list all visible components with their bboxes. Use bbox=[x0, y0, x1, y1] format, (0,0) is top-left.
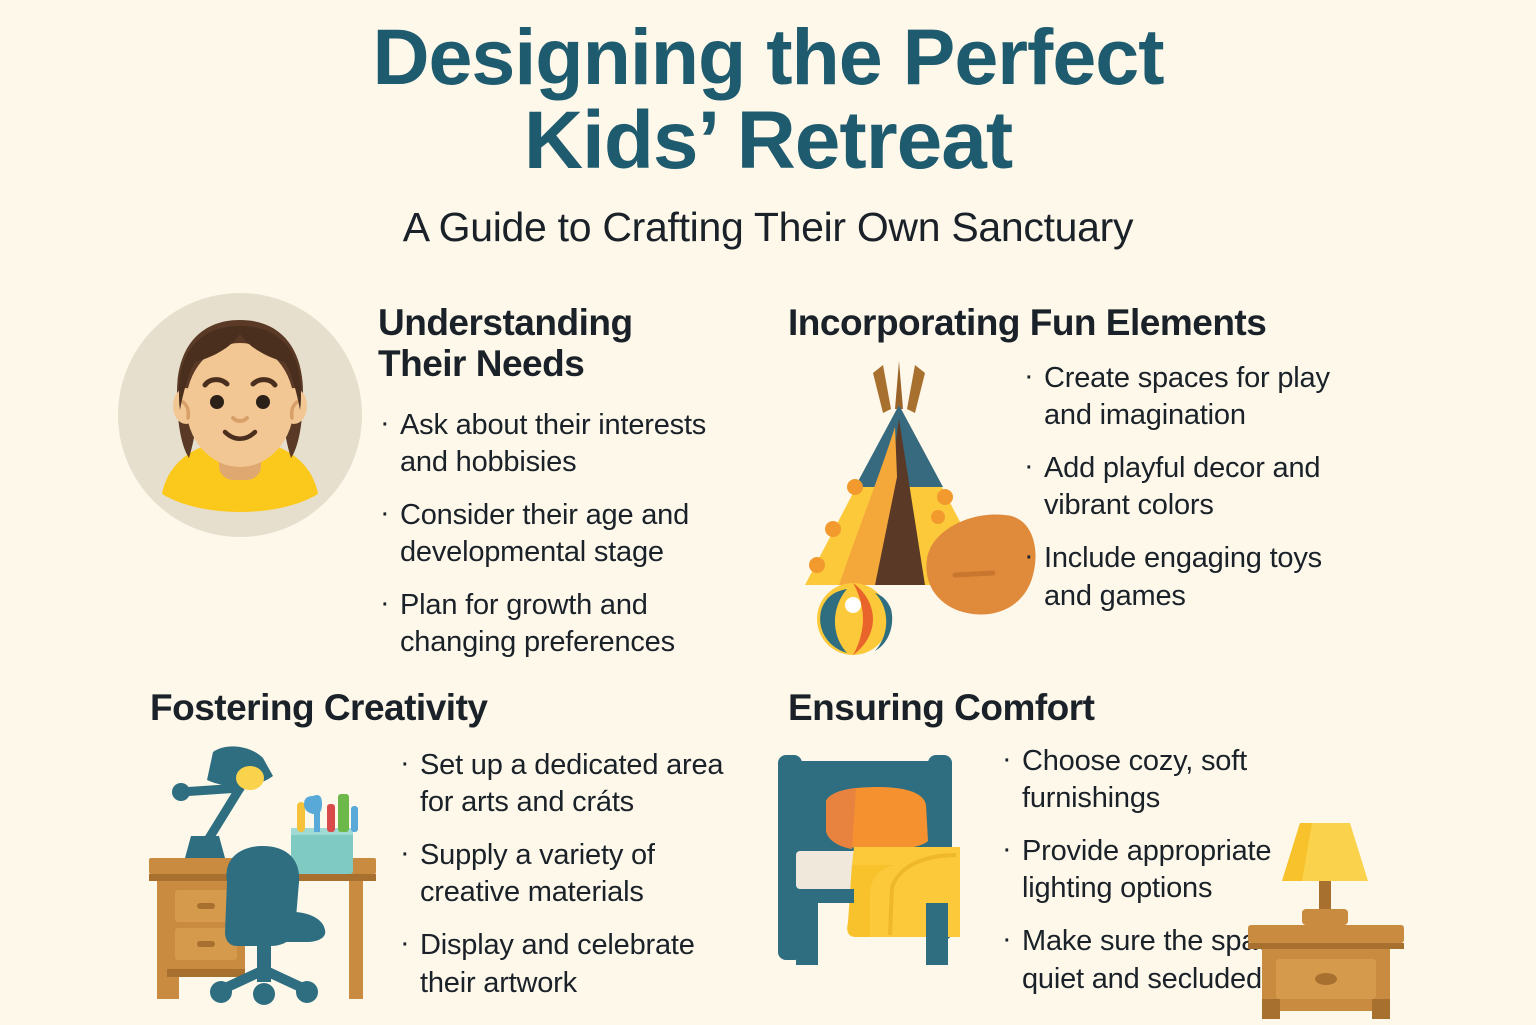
section-heading-1: Understanding Their Needs bbox=[378, 302, 726, 385]
section-4-head-wrap: Ensuring Comfort bbox=[788, 687, 1094, 728]
section-heading-4: Ensuring Comfort bbox=[788, 687, 1094, 728]
header: Designing the Perfect Kids’ Retreat A Gu… bbox=[0, 0, 1536, 251]
section-understanding-their-needs: Understanding Their Needs Ask about thei… bbox=[0, 285, 760, 675]
section-ensuring-comfort: Ensuring Comfort bbox=[760, 675, 1536, 1025]
list-item: Consider their age and developmental sta… bbox=[378, 497, 726, 571]
page-title-line2: Kids’ Retreat bbox=[0, 101, 1536, 181]
sections-grid: Understanding Their Needs Ask about thei… bbox=[0, 285, 1536, 1025]
list-item: Display and celebrate their artwork bbox=[398, 927, 728, 1001]
desk-with-lamp-icon bbox=[145, 740, 380, 1005]
list-item: Set up a dedicated area for arts and crá… bbox=[398, 747, 728, 821]
list-item: Plan for growth and changing preferences bbox=[378, 587, 726, 661]
page-subtitle: A Guide to Crafting Their Own Sanctuary bbox=[0, 204, 1536, 251]
section-heading-3: Fostering Creativity bbox=[150, 687, 487, 728]
section-2-text: Create spaces for play and imagination A… bbox=[1022, 360, 1362, 631]
list-item: Add playful decor and vibrant colors bbox=[1022, 450, 1362, 524]
section-2-head-wrap: Incorporating Fun Elements bbox=[788, 302, 1388, 343]
page-title-line1: Designing the Perfect bbox=[0, 18, 1536, 95]
section-fostering-creativity: Fostering Creativity bbox=[0, 675, 760, 1025]
section-2-bullets: Create spaces for play and imagination A… bbox=[1022, 360, 1362, 615]
list-item: Choose cozy, soft furnishings bbox=[1000, 743, 1330, 817]
infographic-page: Designing the Perfect Kids’ Retreat A Gu… bbox=[0, 0, 1536, 1024]
section-1-bullets: Ask about their interests and hobbisies … bbox=[378, 407, 726, 662]
list-item: Ask about their interests and hobbisies bbox=[378, 407, 726, 481]
girl-avatar-icon bbox=[115, 290, 365, 540]
list-item: Supply a variety of creative materials bbox=[398, 837, 728, 911]
nightstand-with-lamp-icon bbox=[1238, 817, 1423, 1007]
bed-icon bbox=[760, 755, 990, 1005]
section-3-head-wrap: Fostering Creativity bbox=[150, 687, 487, 728]
teepee-tent-icon bbox=[755, 357, 1040, 657]
section-heading-2: Incorporating Fun Elements bbox=[788, 302, 1388, 343]
section-3-text: Set up a dedicated area for arts and crá… bbox=[398, 747, 728, 1018]
list-item: Create spaces for play and imagination bbox=[1022, 360, 1362, 434]
list-item: Include engaging toys and games bbox=[1022, 540, 1362, 614]
section-1-text: Understanding Their Needs Ask about thei… bbox=[378, 302, 726, 678]
section-incorporating-fun-elements: Incorporating Fun Elements bbox=[760, 285, 1536, 675]
section-3-bullets: Set up a dedicated area for arts and crá… bbox=[398, 747, 728, 1002]
